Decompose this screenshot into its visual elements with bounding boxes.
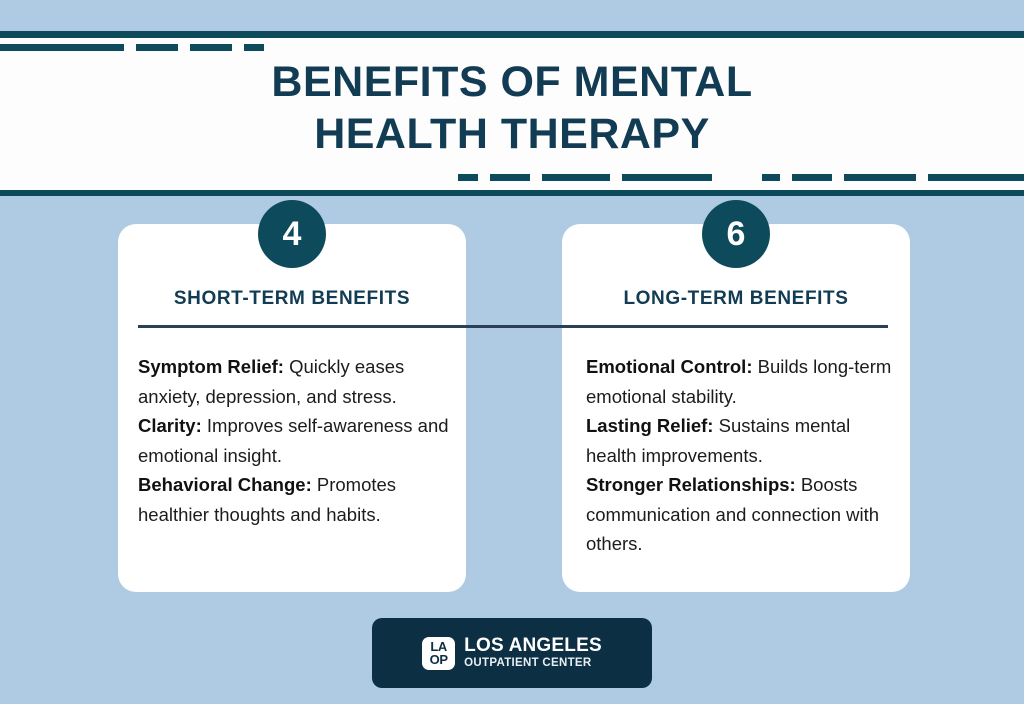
header-dash-top-2	[190, 44, 232, 51]
short-term-benefit-item-1-lead: Clarity:	[138, 415, 202, 436]
benefits-card-group: 4 6 SHORT-TERM BENEFITS LONG-TERM BENEFI…	[0, 200, 1024, 600]
long-term-benefit-item-2-lead: Stronger Relationships:	[586, 474, 796, 495]
header-dash-bottom-2	[542, 174, 610, 181]
header-bottom-dash-row	[0, 174, 1024, 182]
long-term-benefit-item-2: Stronger Relationships: Boosts communica…	[586, 470, 898, 559]
brand-logo-text: LOS ANGELES OUTPATIENT CENTER	[464, 636, 602, 670]
page-title: BENEFITS OF MENTAL HEALTH THERAPY	[0, 56, 1024, 160]
header-top-blue-strip	[0, 0, 1024, 31]
infographic-poster: BENEFITS OF MENTAL HEALTH THERAPY 4 6 SH…	[0, 0, 1024, 704]
badge-short-term-count: 4	[258, 200, 326, 268]
long-term-benefit-item-1-lead: Lasting Relief:	[586, 415, 713, 436]
header-dash-bottom-3	[622, 174, 712, 181]
card-heading-short-term: SHORT-TERM BENEFITS	[118, 288, 466, 310]
brand-logo-inner: LA OP LOS ANGELES OUTPATIENT CENTER	[422, 636, 602, 670]
short-term-benefit-item-0: Symptom Relief: Quickly eases anxiety, d…	[138, 352, 450, 411]
brand-name: LOS ANGELES	[464, 636, 602, 656]
short-term-benefit-item-2: Behavioral Change: Promotes healthier th…	[138, 470, 450, 529]
long-term-benefit-item-1: Lasting Relief: Sustains mental health i…	[586, 411, 898, 470]
badge-long-term-count: 6	[702, 200, 770, 268]
header-dash-bottom-6	[844, 174, 916, 181]
long-term-benefit-item-0-lead: Emotional Control:	[586, 356, 752, 377]
card-heading-long-term: LONG-TERM BENEFITS	[562, 288, 910, 310]
header-dash-bottom-1	[490, 174, 530, 181]
brand-tagline: OUTPATIENT CENTER	[464, 656, 602, 670]
laop-monogram-icon: LA OP	[422, 637, 455, 670]
page-title-line-2: HEALTH THERAPY	[0, 108, 1024, 160]
short-term-benefit-item-2-lead: Behavioral Change:	[138, 474, 312, 495]
header-top-dash-row	[0, 44, 1024, 52]
card-body-short-term: Symptom Relief: Quickly eases anxiety, d…	[138, 352, 450, 529]
header-dash-top-1	[136, 44, 178, 51]
header-top-rule	[0, 31, 1024, 38]
header-dash-bottom-5	[792, 174, 832, 181]
long-term-benefit-item-0: Emotional Control: Builds long-term emot…	[586, 352, 898, 411]
header-dash-top-0	[0, 44, 124, 51]
laop-monogram-line-2: OP	[430, 653, 448, 666]
brand-logo-pill[interactable]: LA OP LOS ANGELES OUTPATIENT CENTER	[372, 618, 652, 688]
short-term-benefit-item-1: Clarity: Improves self-awareness and emo…	[138, 411, 450, 470]
header-dash-bottom-7	[928, 174, 1024, 181]
header-band: BENEFITS OF MENTAL HEALTH THERAPY	[0, 0, 1024, 200]
header-dash-top-3	[244, 44, 264, 51]
short-term-benefit-item-0-lead: Symptom Relief:	[138, 356, 284, 377]
card-body-long-term: Emotional Control: Builds long-term emot…	[586, 352, 898, 559]
cards-divider-line	[138, 325, 888, 328]
header-dash-bottom-4	[762, 174, 780, 181]
header-dash-bottom-0	[458, 174, 478, 181]
page-title-line-1: BENEFITS OF MENTAL	[0, 56, 1024, 108]
